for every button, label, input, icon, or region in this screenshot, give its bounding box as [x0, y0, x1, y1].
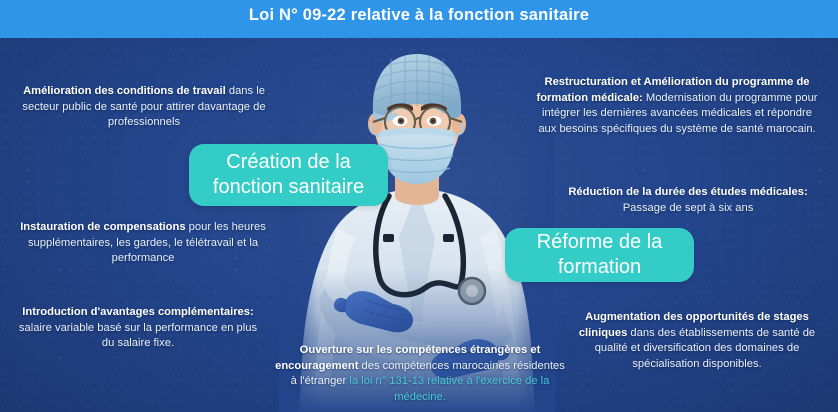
callout-amelioration-conditions: Amélioration des conditions de travail d…: [18, 84, 270, 131]
badge-creation-label: Création de la fonction sanitaire: [189, 150, 388, 200]
page-title: Loi N° 09-22 relative à la fonction sani…: [0, 0, 838, 31]
badge-creation-fonction-sanitaire: Création de la fonction sanitaire: [189, 144, 388, 206]
callout-ouverture-highlight: la loi n° 131-13 relative à l'exercice d…: [349, 375, 549, 403]
callout-introduction-avantages: Introduction d'avantages complémentaires…: [12, 305, 264, 352]
callout-augmentation-stages-cliniques: Augmentation des opportunités de stages …: [566, 310, 828, 372]
header-band: Loi N° 09-22 relative à la fonction sani…: [0, 0, 838, 38]
badge-reforme-formation: Réforme de la formation: [505, 228, 694, 282]
callout-reduction-rest: Passage de sept à six ans: [623, 202, 754, 214]
callout-avantages-bold: Introduction d'avantages complémentaires…: [22, 306, 253, 318]
infographic-poster: Loi N° 09-22 relative à la fonction sani…: [0, 0, 838, 412]
callout-conditions-bold: Amélioration des conditions de travail: [23, 85, 226, 97]
callout-augmentation-rest: dans des établissements de santé de qual…: [595, 327, 815, 370]
badge-reforme-label: Réforme de la formation: [505, 230, 694, 280]
callout-reduction-duree-etudes: Réduction de la durée des études médical…: [548, 185, 828, 216]
callout-instauration-compensations: Instauration de compensations pour les h…: [16, 220, 270, 267]
callout-restructuration-programme: Restructuration et Amélioration du progr…: [532, 75, 822, 137]
callout-ouverture-competences-etrangeres: Ouverture sur les compétences étrangères…: [272, 343, 568, 405]
callout-avantages-rest: salaire variable basé sur la performance…: [19, 322, 257, 350]
callout-compensations-bold: Instauration de compensations: [20, 221, 185, 233]
callout-reduction-bold: Réduction de la durée des études médical…: [568, 186, 807, 198]
